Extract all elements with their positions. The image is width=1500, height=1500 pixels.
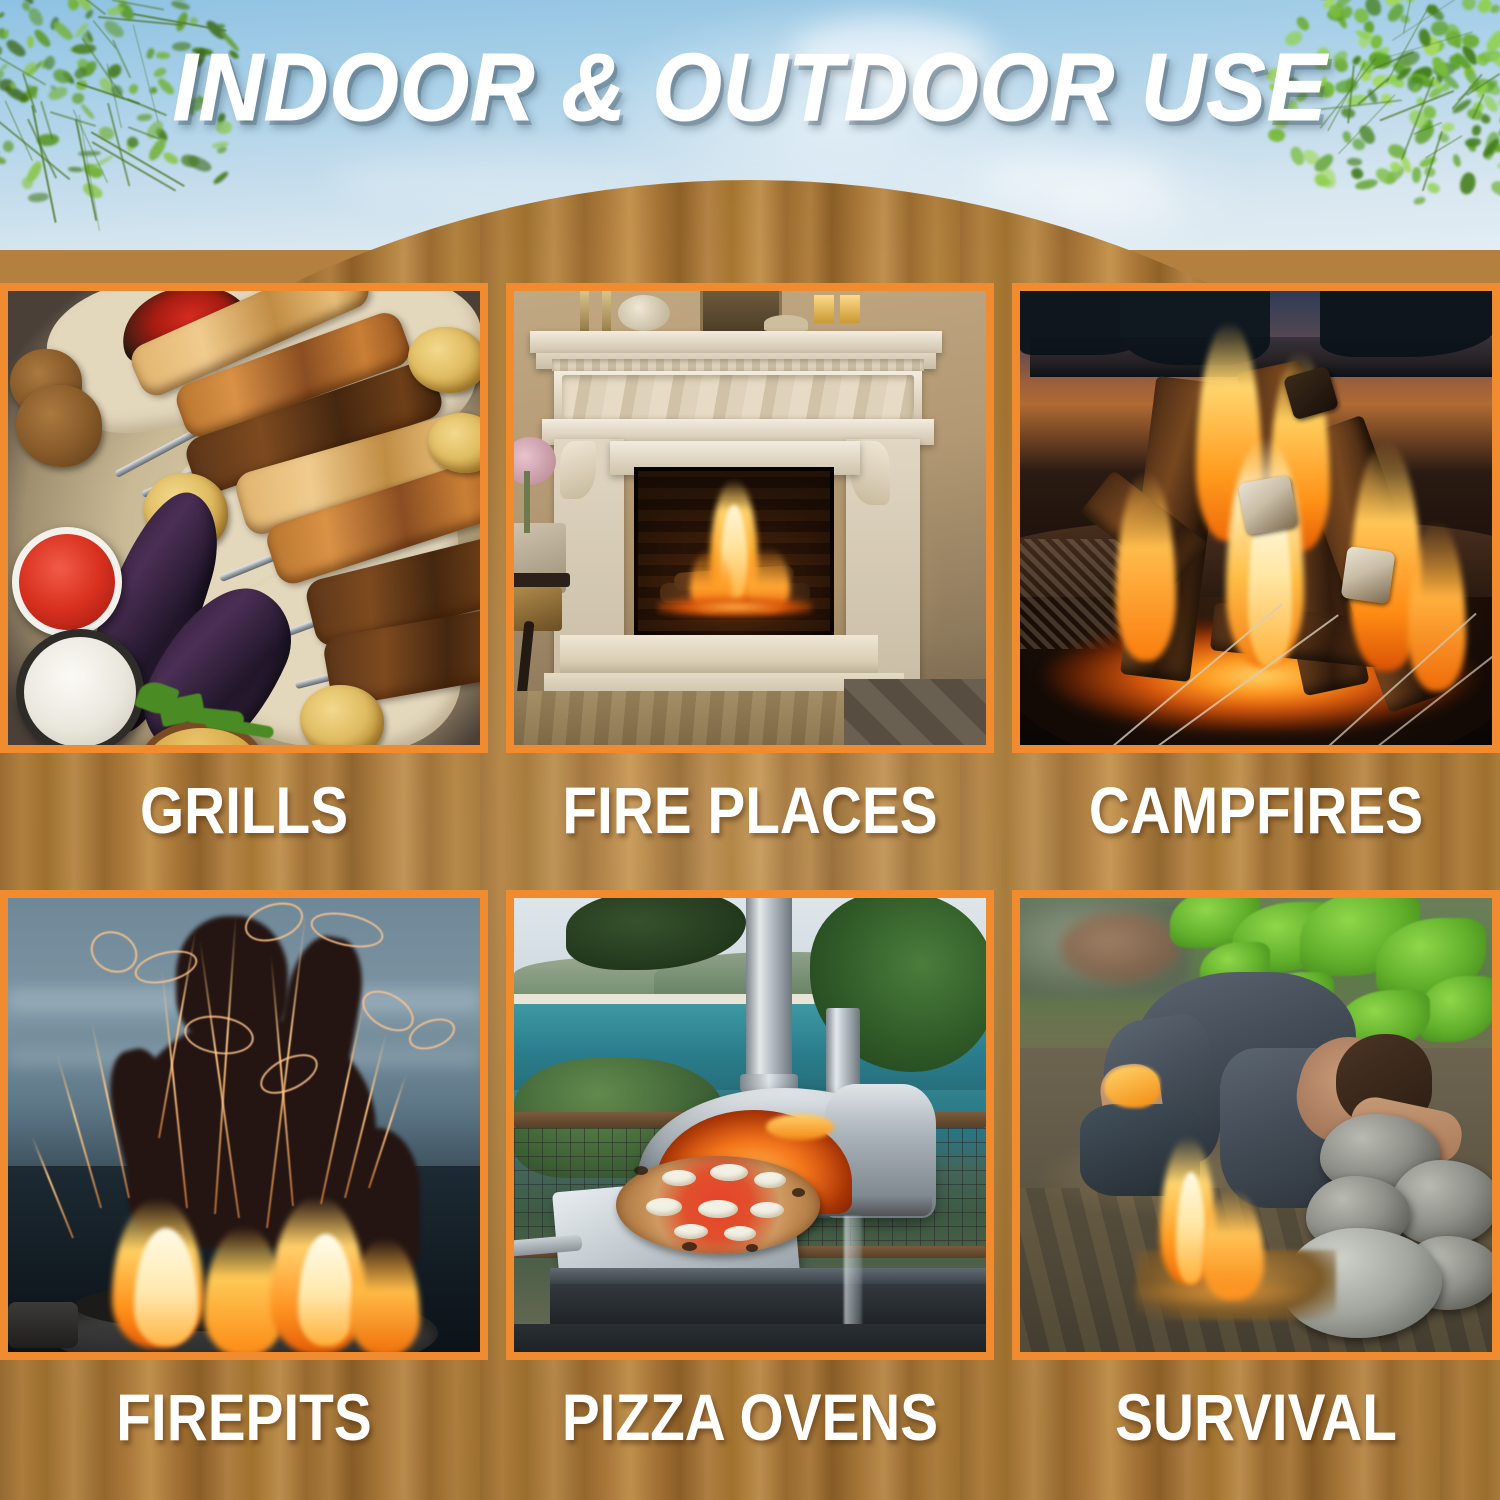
leaf-shape: [1405, 0, 1420, 5]
grid-cell-fire-places[interactable]: FIRE PLACES: [506, 283, 994, 845]
thumbnail-firepits[interactable]: [0, 890, 488, 1360]
thumbnail-fire-places[interactable]: [506, 283, 994, 753]
grid-cell-campfires[interactable]: CAMPFIRES: [1012, 283, 1500, 845]
leaf-shape: [170, 0, 190, 12]
leaf-shape: [1, 139, 16, 154]
leaf-shape: [26, 36, 34, 49]
leaf-shape: [1425, 180, 1441, 195]
infographic-poster: INDOOR & OUTDOOR USE: [0, 0, 1500, 1500]
thumbnail-survival[interactable]: [1012, 890, 1500, 1360]
grilled-meat-platter-photo: [8, 291, 480, 745]
leaf-shape: [1349, 165, 1365, 181]
leaf-shape: [1289, 146, 1305, 167]
leaf-shape: [28, 193, 50, 203]
caption-grills: GRILLS: [34, 775, 454, 845]
caption-firepits: FIREPITS: [34, 1382, 454, 1452]
leaf-shape: [1489, 178, 1500, 198]
leaf-shape: [1354, 178, 1378, 191]
leaf-shape: [5, 37, 29, 60]
leaf-shape: [68, 167, 83, 173]
grid-cell-grills[interactable]: GRILLS: [0, 283, 488, 845]
indoor-fireplace-photo: [514, 291, 986, 745]
leaf-shape: [32, 28, 52, 50]
grid-cell-pizza-ovens[interactable]: PIZZA OVENS: [506, 890, 994, 1452]
leaf-shape: [1294, 14, 1312, 32]
leaf-shape: [0, 139, 1, 156]
caption-pizza-ovens: PIZZA OVENS: [540, 1382, 960, 1452]
campfire-photo: [1020, 291, 1492, 745]
outdoor-pizza-oven-photo: [514, 898, 986, 1352]
leaf-shape: [1412, 167, 1421, 183]
leaf-shape: [1413, 196, 1426, 207]
leaf-shape: [0, 155, 7, 166]
grid-row: GRILLS: [0, 283, 1500, 890]
thumbnail-pizza-ovens[interactable]: [506, 890, 994, 1360]
caption-campfires: CAMPFIRES: [1046, 775, 1466, 845]
leaf-shape: [212, 170, 230, 185]
use-case-grid: GRILLS: [0, 283, 1500, 1497]
grid-cell-firepits[interactable]: FIREPITS: [0, 890, 488, 1452]
thumbnail-campfires[interactable]: [1012, 283, 1500, 753]
page-title: INDOOR & OUTDOOR USE: [53, 38, 1448, 138]
leaf-shape: [0, 46, 2, 56]
thumbnail-grills[interactable]: [0, 283, 488, 753]
leaf-shape: [1451, 153, 1461, 168]
leaf-shape: [24, 160, 45, 185]
caption-survival: SURVIVAL: [1046, 1382, 1466, 1452]
leaf-shape: [1472, 124, 1482, 136]
leaf-shape: [0, 12, 6, 20]
leaf-shape: [1347, 158, 1363, 167]
survival-fire-starting-photo: [1020, 898, 1492, 1352]
leaf-shape: [1458, 171, 1479, 197]
leaf-shape: [26, 6, 45, 29]
leaf-shape: [162, 150, 180, 166]
leaf-shape: [1465, 138, 1481, 148]
leaf-shape: [1481, 93, 1500, 115]
grid-row: FIREPITS: [0, 890, 1500, 1497]
firepit-sparks-photo: [8, 898, 480, 1352]
cloud-shape: [1060, 185, 1180, 221]
caption-fire-places: FIRE PLACES: [540, 775, 960, 845]
grid-cell-survival[interactable]: SURVIVAL: [1012, 890, 1500, 1452]
